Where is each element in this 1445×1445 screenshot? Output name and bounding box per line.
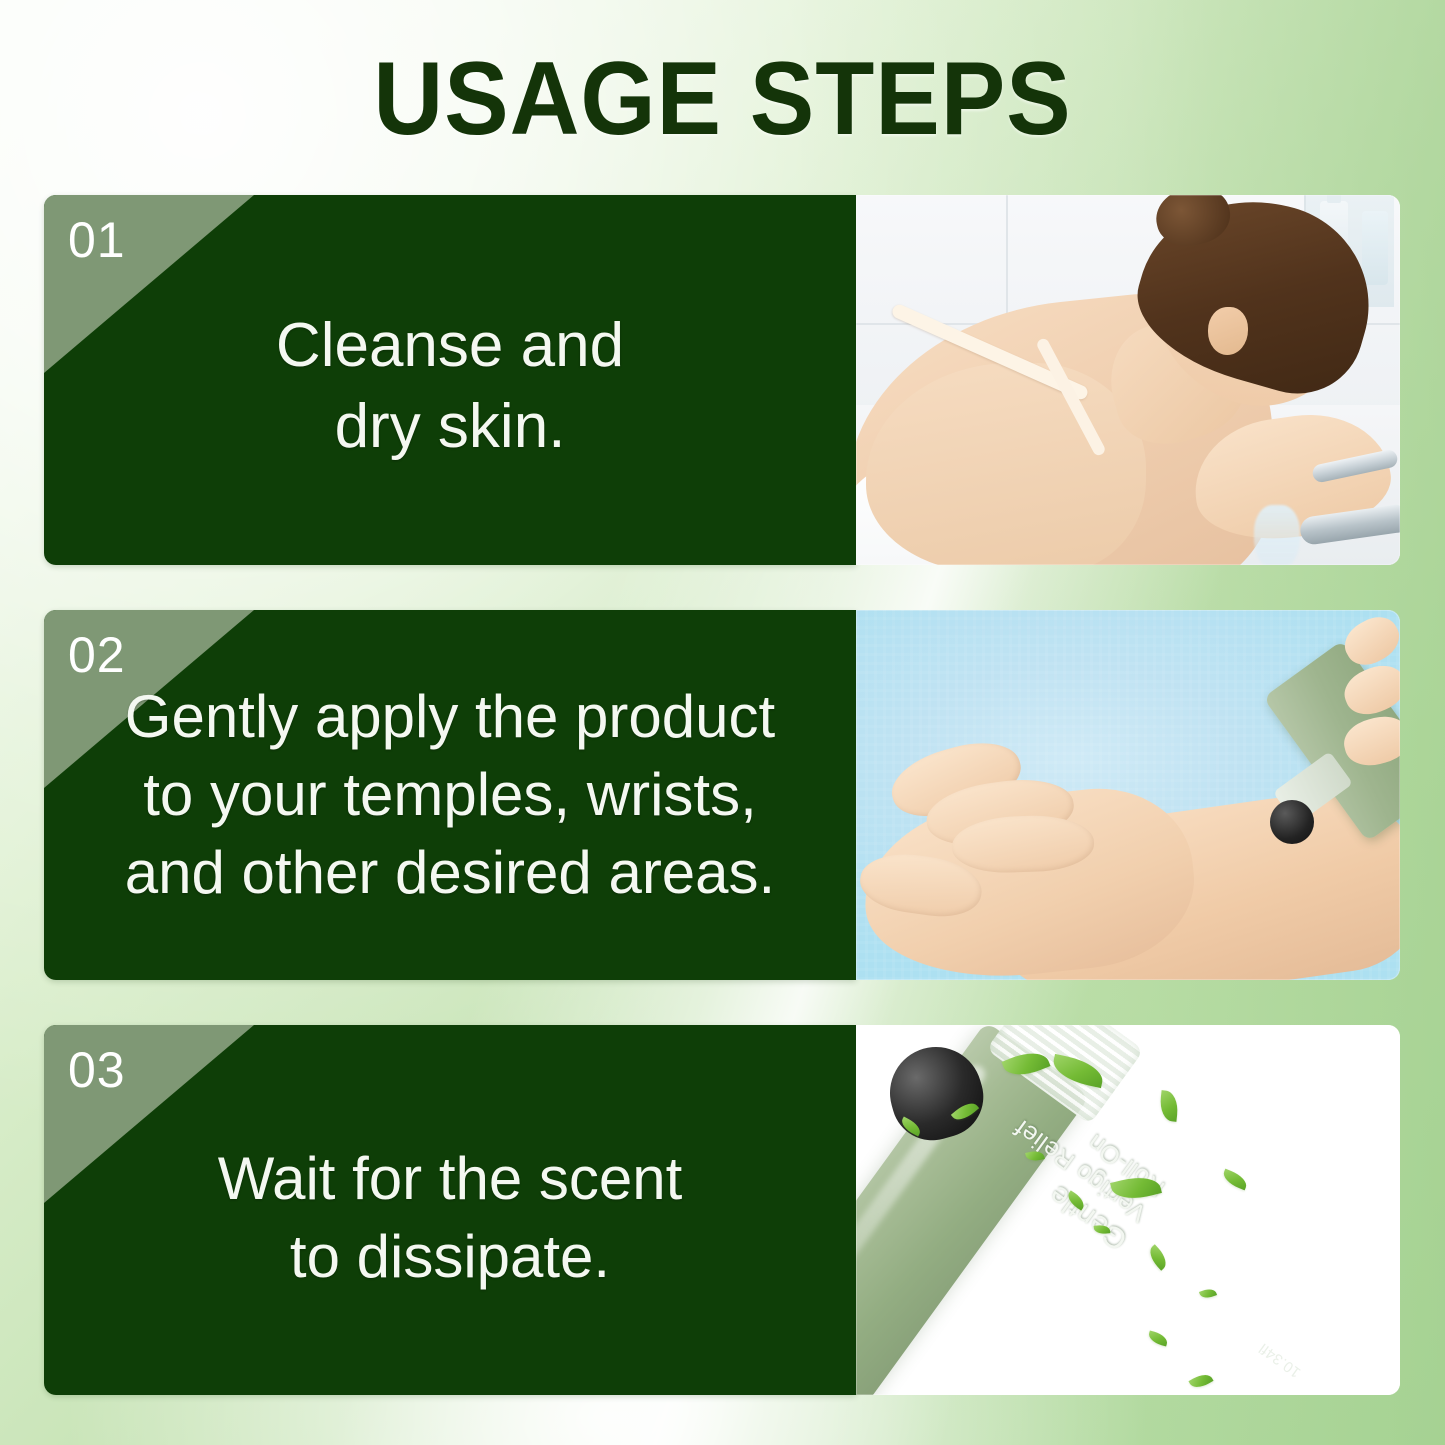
step-text-line: Gently apply the product: [70, 678, 830, 756]
usage-steps-infographic: USAGE STEPS 01 Cleanse and dry skin.: [0, 0, 1445, 1445]
product-bottle-photo: Gentle Vertigo Relief Roll-On 10.34fl: [856, 1025, 1400, 1395]
step-text-line: dry skin.: [70, 387, 830, 468]
step-row: 01 Cleanse and dry skin.: [44, 195, 1400, 565]
step-number: 02: [68, 630, 126, 680]
step-text-line: Cleanse and: [70, 306, 830, 387]
step-number: 01: [68, 215, 126, 265]
step-text-line: Wait for the scent: [70, 1140, 830, 1218]
step-text: Gently apply the product to your temples…: [44, 678, 856, 912]
step-text-line: to your temples, wrists,: [70, 756, 830, 834]
step-card: 03 Wait for the scent to dissipate.: [44, 1025, 856, 1395]
applying-roll-on-to-wrist-photo: [856, 610, 1400, 980]
step-text: Cleanse and dry skin.: [44, 306, 856, 467]
step-card: 02 Gently apply the product to your temp…: [44, 610, 856, 980]
step-number: 03: [68, 1045, 126, 1095]
toiletry-bottle: [1362, 211, 1388, 285]
step-card: 01 Cleanse and dry skin.: [44, 195, 856, 565]
roller-ball: [1270, 800, 1314, 844]
step-row: 02 Gently apply the product to your temp…: [44, 610, 1400, 980]
step-row: 03 Wait for the scent to dissipate. Gent…: [44, 1025, 1400, 1395]
woman-washing-face-photo: [856, 195, 1400, 565]
step-text-line: and other desired areas.: [70, 834, 830, 912]
step-text: Wait for the scent to dissipate.: [44, 1140, 856, 1296]
step-text-line: to dissipate.: [70, 1218, 830, 1296]
running-water: [1254, 505, 1300, 565]
page-title: USAGE STEPS: [51, 44, 1395, 154]
